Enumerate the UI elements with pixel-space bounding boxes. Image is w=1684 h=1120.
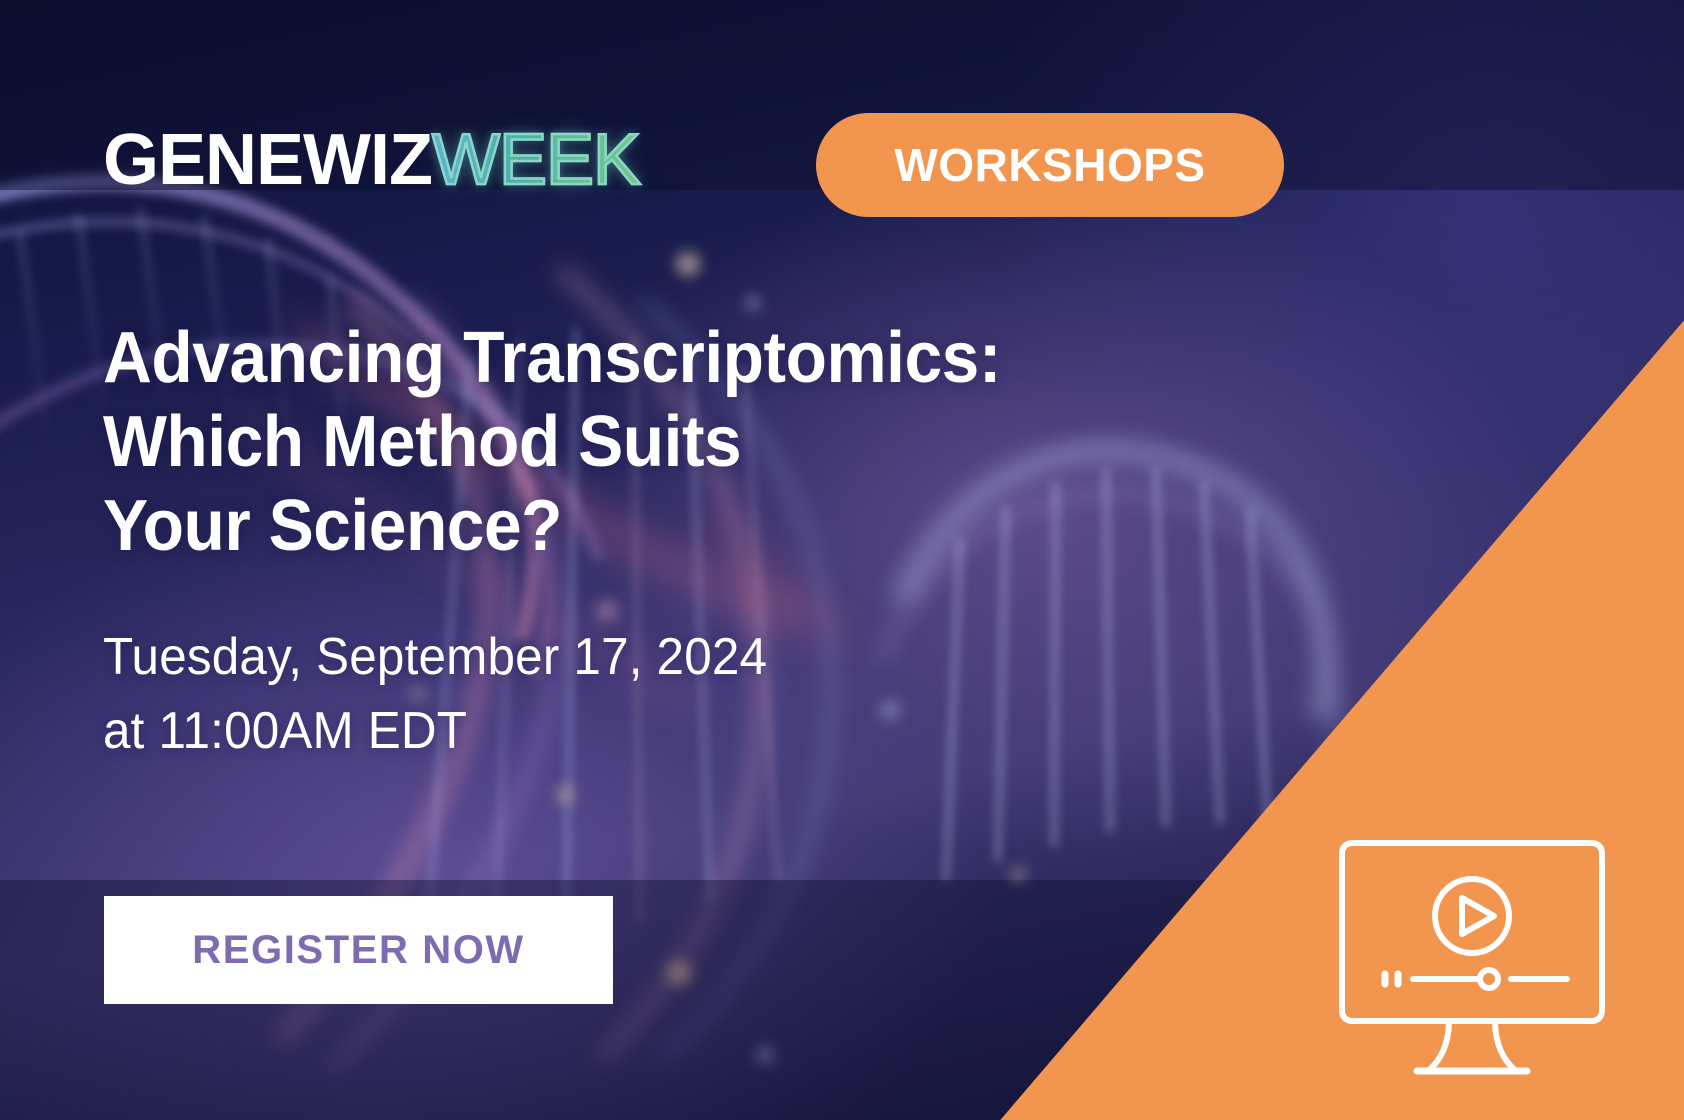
logo-brand-text: GENEWIZ [103,124,432,196]
workshops-badge: WORKSHOPS [816,113,1284,217]
register-now-button[interactable]: REGISTER NOW [104,896,613,1004]
monitor-video-player-icon [1337,838,1607,1078]
headline-line-1: Advancing Transcriptomics: [103,316,1001,400]
event-time: at 11:00AM EDT [103,694,767,768]
promotional-banner: GENEWIZ WEEK WORKSHOPS Advancing Transcr… [0,0,1684,1120]
event-datetime: Tuesday, September 17, 2024 at 11:00AM E… [103,620,767,768]
register-now-label: REGISTER NOW [192,928,525,973]
workshops-badge-label: WORKSHOPS [894,138,1205,192]
headline-line-2: Which Method Suits [103,400,1001,484]
page-title: Advancing Transcriptomics: Which Method … [103,316,1001,568]
event-date: Tuesday, September 17, 2024 [103,620,767,694]
headline-line-3: Your Science? [103,484,1001,568]
logo-week-text: WEEK [432,124,640,196]
genewiz-week-logo: GENEWIZ WEEK [103,124,640,196]
